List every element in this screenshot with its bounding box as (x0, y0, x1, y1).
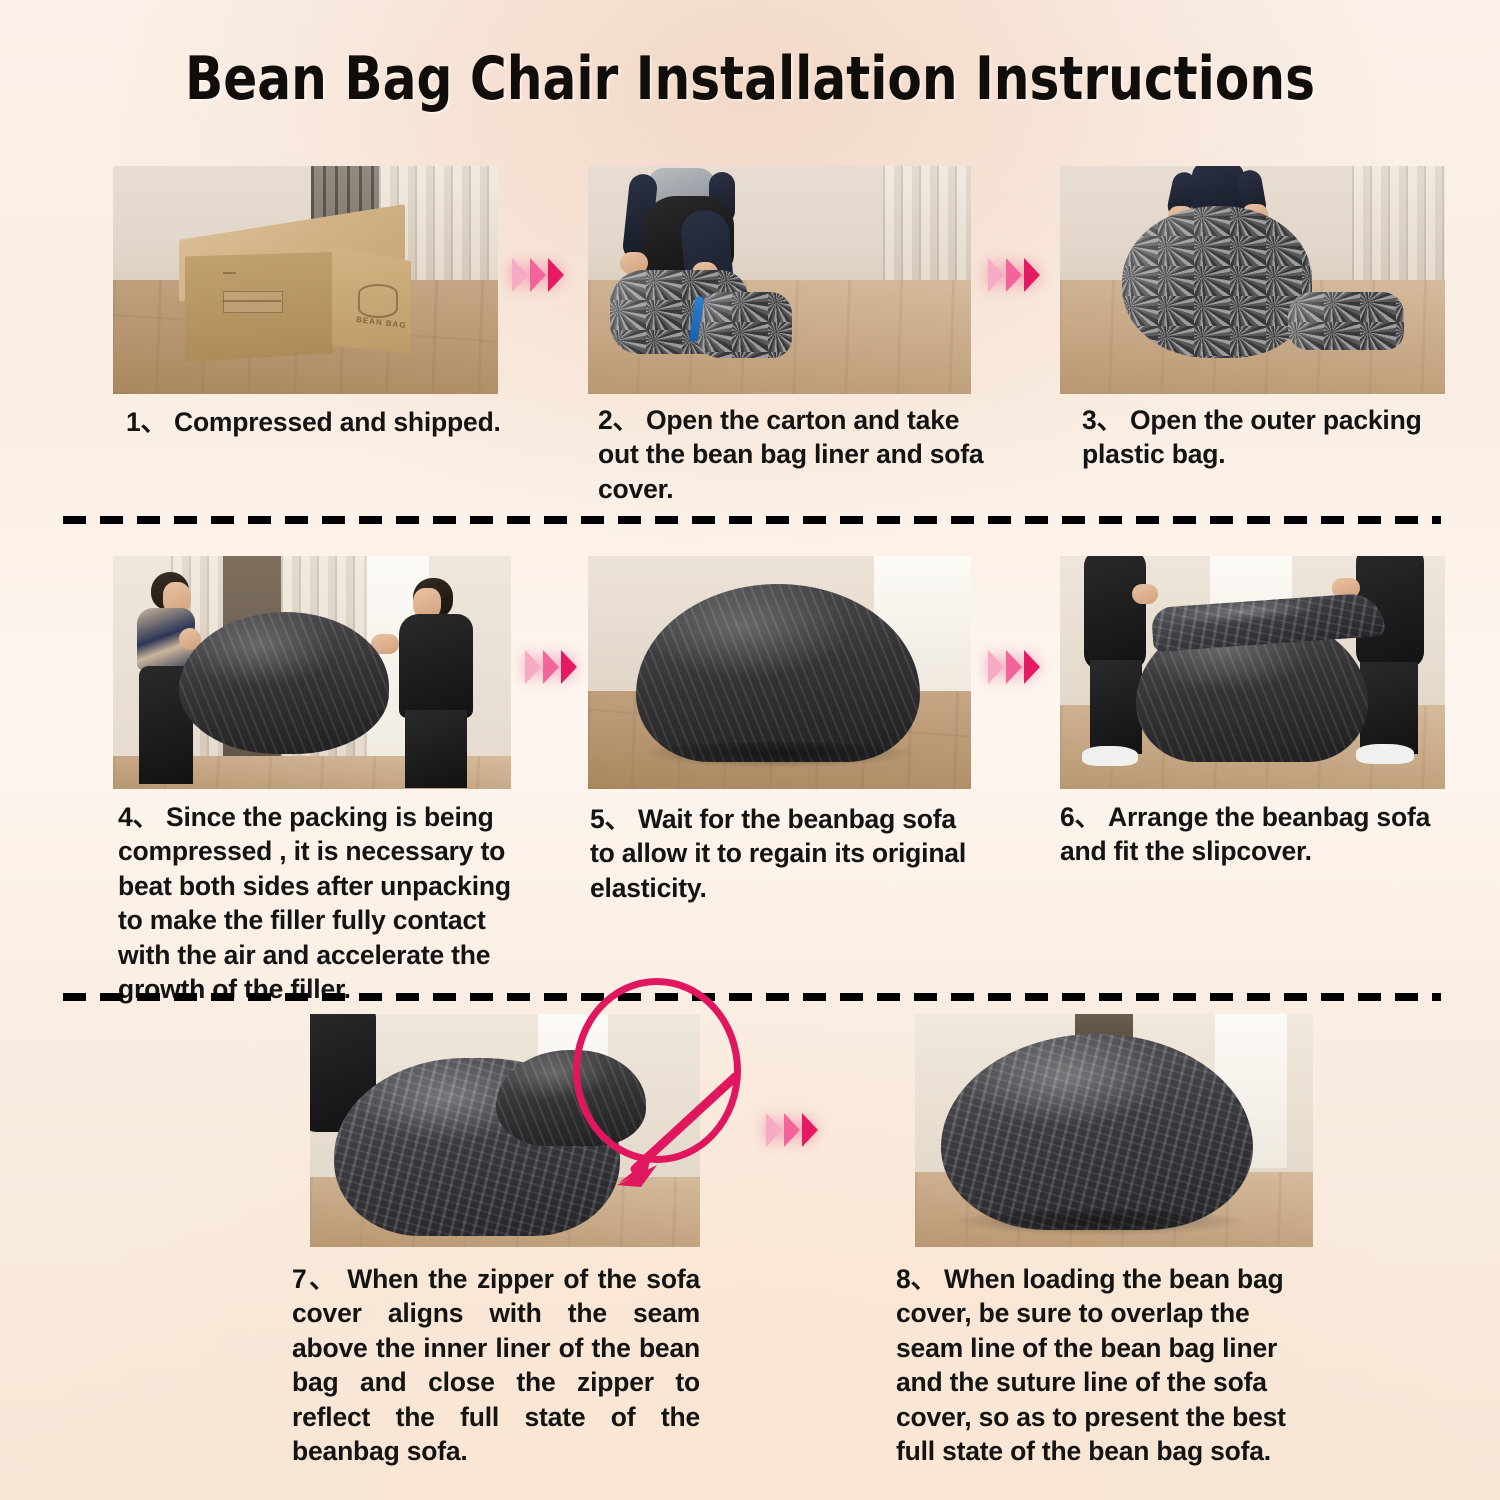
infographic-page: Bean Bag Chair Installation Instructions… (0, 0, 1500, 1500)
box-label-line (223, 272, 236, 274)
bean-bag-pictogram (358, 284, 398, 318)
step-2-caption: 2、 Open the carton and take out the bean… (598, 403, 988, 506)
step-7-caption: 7、 When the zipper of the sofa cover ali… (292, 1262, 700, 1469)
bean-bag-liner (179, 612, 389, 754)
chevron-icon (548, 258, 564, 292)
chevron-icon (1024, 650, 1040, 684)
chevron-icon (525, 650, 541, 684)
curtain-light (1352, 166, 1445, 294)
person-right-shoe (1356, 744, 1414, 764)
bean-bag-shadow (640, 742, 918, 768)
step-2-photo (588, 166, 971, 394)
chevron-icon (543, 650, 559, 684)
arrow-step7-to-step8 (766, 1113, 818, 1147)
divider-row2-row3 (63, 993, 1441, 1001)
person-left-body (1084, 556, 1146, 670)
chevron-icon (561, 650, 577, 684)
divider-row1-row2 (63, 516, 1441, 524)
person-right-leg (1360, 662, 1418, 754)
step-4-photo (113, 556, 511, 789)
step-5-photo (588, 556, 971, 789)
step-1-photo: BEAN BAG (113, 166, 498, 394)
step-4-caption: 4、 Since the packing is being compressed… (118, 800, 518, 1007)
chevron-icon (988, 650, 1004, 684)
step-5-caption: 5、 Wait for the beanbag sofa to allow it… (590, 802, 982, 905)
chevron-icon (802, 1113, 818, 1147)
curtain-light (883, 166, 971, 294)
chevron-icon (1024, 258, 1040, 292)
bean-bag-shadow (949, 1210, 1249, 1236)
box-shipping-label (223, 291, 283, 313)
chevron-icon (512, 258, 528, 292)
step-3-caption: 3、 Open the outer packing plastic bag. (1082, 403, 1452, 472)
step-3-photo (1060, 166, 1445, 394)
chevron-icon (1006, 258, 1022, 292)
chevron-icon (784, 1113, 800, 1147)
step-8-photo (915, 1014, 1313, 1247)
plastic-wrap-small (696, 292, 792, 358)
plastic-wrap-flat (1288, 292, 1404, 350)
chevron-icon (530, 258, 546, 292)
person-left-leg (1090, 660, 1142, 754)
arrow-step1-to-step2 (512, 258, 564, 292)
person-left-shoe (1082, 746, 1138, 766)
page-title: Bean Bag Chair Installation Instructions (53, 44, 1448, 114)
step-6-caption: 6、 Arrange the beanbag sofa and fit the … (1060, 800, 1450, 869)
person-left-hand (1132, 584, 1158, 604)
arrow-step4-to-step5 (525, 650, 577, 684)
plastic-wrap-round (1122, 206, 1312, 358)
box-label-line (223, 300, 281, 302)
step-8-caption: 8、 When loading the bean bag cover, be s… (896, 1262, 1308, 1469)
chevron-icon (988, 258, 1004, 292)
person-right-trousers (405, 710, 467, 788)
chevron-icon (1006, 650, 1022, 684)
chevron-icon (766, 1113, 782, 1147)
step-1-caption: 1、 Compressed and shipped. (126, 405, 526, 439)
person-right-jacket (399, 614, 473, 718)
step-6-photo (1060, 556, 1445, 789)
zipper-direction-arrow (595, 1065, 745, 1195)
arrow-step2-to-step3 (988, 258, 1040, 292)
arrow-step5-to-step6 (988, 650, 1040, 684)
